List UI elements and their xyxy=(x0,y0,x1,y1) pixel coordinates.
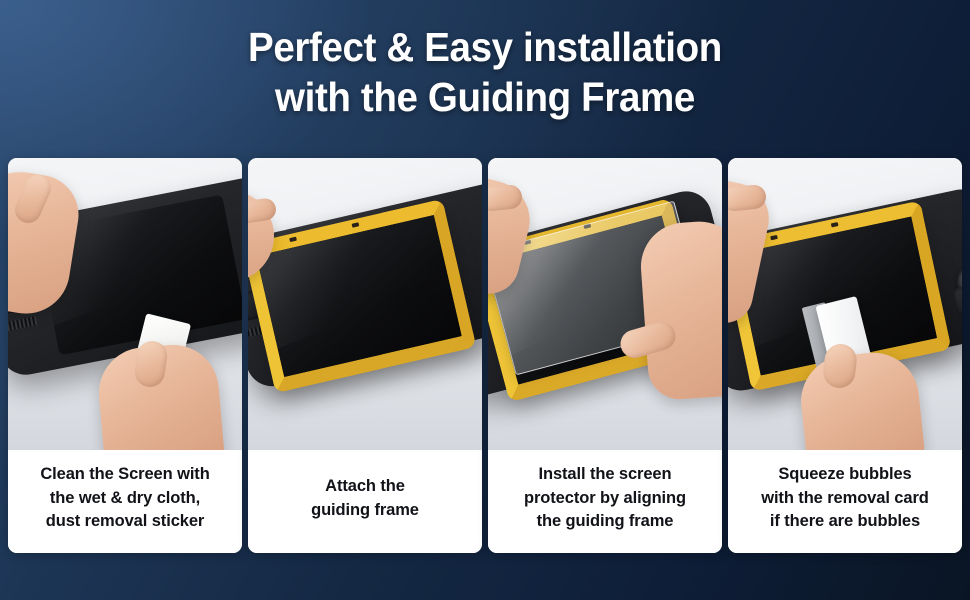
step-photo-1 xyxy=(8,158,242,450)
step-photo-2 xyxy=(248,158,482,450)
step-photo-4 xyxy=(728,158,962,450)
right-thumbstick xyxy=(241,243,242,285)
step-card-2: Attach the guiding frame xyxy=(248,158,482,553)
caption-line: the guiding frame xyxy=(537,512,674,530)
headline-line-1: Perfect & Easy installation xyxy=(248,24,722,70)
caption-line: the wet & dry cloth, xyxy=(50,489,200,507)
caption-line: Squeeze bubbles xyxy=(778,465,911,483)
frame-alignment-notch xyxy=(770,235,778,240)
step-caption-3: Install the screen protector by aligning… xyxy=(488,450,722,553)
step-caption-1: Clean the Screen with the wet & dry clot… xyxy=(8,450,242,553)
step-caption-2: Attach the guiding frame xyxy=(248,450,482,553)
page-title: Perfect & Easy installation with the Gui… xyxy=(29,22,941,122)
step-card-1: Clean the Screen with the wet & dry clot… xyxy=(8,158,242,553)
step-caption-4: Squeeze bubbles with the removal card if… xyxy=(728,450,962,553)
caption-line: Install the screen xyxy=(538,465,671,483)
step-photo-3 xyxy=(488,158,722,450)
caption-line: protector by aligning xyxy=(524,489,686,507)
step-caption-text-3: Install the screen protector by aligning… xyxy=(524,463,686,533)
caption-line: dust removal sticker xyxy=(46,512,205,530)
step-card-3: Install the screen protector by aligning… xyxy=(488,158,722,553)
left-fingers xyxy=(248,197,277,225)
headline-line-2: with the Guiding Frame xyxy=(29,72,941,122)
console-screen xyxy=(256,215,461,377)
step-card-4: Squeeze bubbles with the removal card if… xyxy=(728,158,962,553)
frame-alignment-notch xyxy=(831,222,839,227)
right-hand xyxy=(638,219,722,402)
caption-line: Attach the xyxy=(325,477,405,495)
step-caption-text-1: Clean the Screen with the wet & dry clot… xyxy=(40,463,209,533)
caption-line: guiding frame xyxy=(311,501,419,519)
steps-row: Clean the Screen with the wet & dry clot… xyxy=(8,158,962,553)
caption-line: if there are bubbles xyxy=(770,512,920,530)
promo-infographic: Perfect & Easy installation with the Gui… xyxy=(0,0,970,600)
step-caption-text-2: Attach the guiding frame xyxy=(311,475,419,522)
step-caption-text-4: Squeeze bubbles with the removal card if… xyxy=(761,463,929,533)
caption-line: with the removal card xyxy=(761,489,929,507)
left-speaker-grille xyxy=(8,316,38,331)
caption-line: Clean the Screen with xyxy=(40,465,209,483)
frame-alignment-notch xyxy=(352,222,360,227)
frame-alignment-notch xyxy=(289,237,297,242)
